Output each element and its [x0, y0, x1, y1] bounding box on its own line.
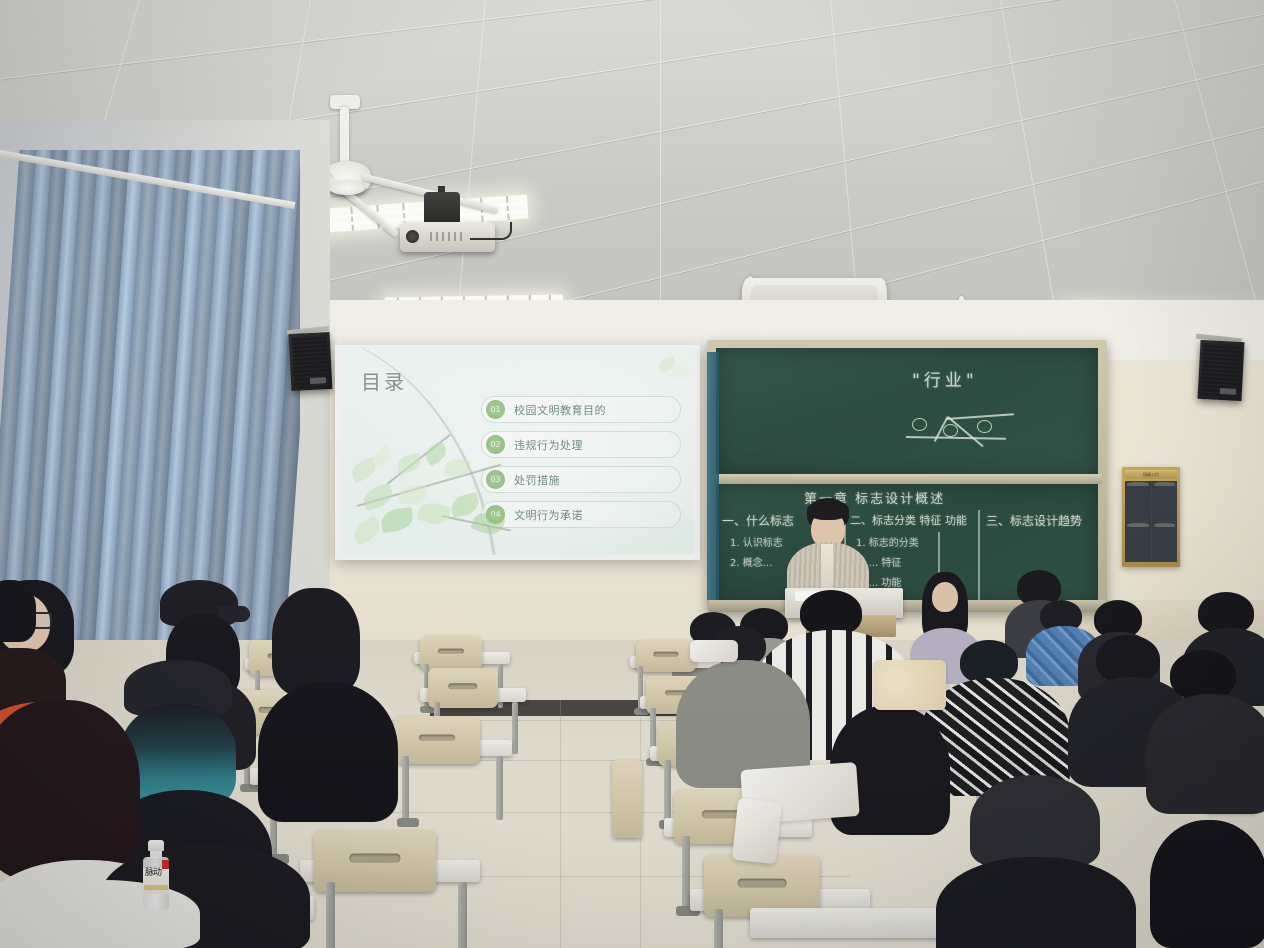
blackboard-mid-rail	[712, 474, 1102, 484]
blackboard-heading: "行业"	[912, 366, 978, 391]
slide-item-number: 01	[486, 400, 505, 419]
blackboard-col1-line: 1. 认识标志	[730, 534, 783, 549]
blackboard-col3-heading: 三、标志设计趋势	[986, 512, 1082, 529]
blackboard-side-panel	[707, 352, 719, 600]
white-bag	[690, 640, 738, 662]
notice-panel	[1125, 481, 1151, 521]
slide-item[interactable]: 01 校园文明教育目的	[481, 396, 681, 423]
bottle-cap	[148, 840, 164, 851]
notice-panel	[1125, 522, 1151, 562]
slide-title: 目录	[361, 366, 407, 395]
classroom-photo: 目录 01 校园文明教育目的 02 违规行为处理 03 处罚措施 04 文明行为…	[0, 0, 1264, 948]
bottle-label-text: 脉动	[145, 869, 161, 878]
water-bottle[interactable]: 脉动	[143, 840, 169, 910]
projector-mount	[424, 192, 460, 226]
notice-board[interactable]: 班级公约	[1122, 467, 1180, 567]
notice-board-header: 班级公约	[1125, 470, 1177, 479]
leaf-decoration	[347, 443, 537, 548]
notice-panel	[1152, 522, 1178, 562]
blackboard-col2-line: 1. 标志的分类	[856, 534, 919, 549]
knit-hat	[970, 775, 1100, 867]
diagram-pivot	[912, 418, 927, 431]
leaf-decoration-corner	[656, 356, 690, 386]
blackboard-col1-line: 2. 概念...	[730, 554, 772, 569]
projector-lens	[406, 230, 419, 243]
blackboard-column-divider	[978, 510, 980, 600]
slide-item-label: 校园文明教育目的	[514, 402, 606, 418]
projection-screen[interactable]: 目录 01 校园文明教育目的 02 违规行为处理 03 处罚措施 04 文明行为…	[341, 348, 694, 555]
bottle-label: 脉动	[143, 868, 169, 894]
wall-speaker-right	[1197, 340, 1244, 401]
diagram-pivot	[943, 424, 958, 437]
projector-cable	[470, 222, 512, 240]
blackboard-col1-heading: 一、什么标志	[722, 512, 794, 529]
blackboard-upper-panel[interactable]: "行业"	[716, 348, 1098, 476]
white-bag	[732, 798, 782, 864]
notice-panel	[1152, 481, 1178, 521]
wall-speaker-left	[289, 332, 333, 391]
blackboard-col2-heading: 二、标志分类 特征 功能	[850, 512, 967, 528]
notice-board-panels	[1125, 481, 1177, 562]
patterned-bag	[874, 660, 946, 710]
diagram-pivot	[977, 420, 992, 433]
